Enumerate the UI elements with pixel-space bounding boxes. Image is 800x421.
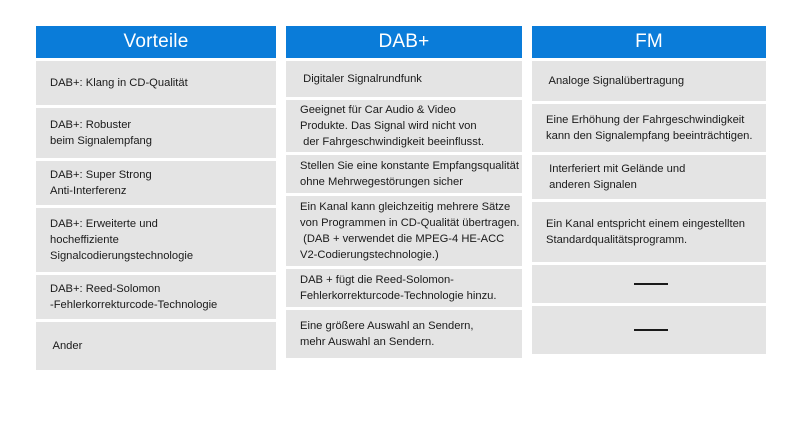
cell-line: Analoge Signalübertragung (546, 73, 756, 89)
table-row: DAB+: Klang in CD-Qualität (36, 61, 276, 105)
cell-line: Ander (50, 338, 266, 354)
table-row: Ein Kanal entspricht einem eingestellten… (532, 202, 766, 262)
column-dabplus: DAB+ Digitaler Signalrundfunk Geeignet f… (286, 26, 522, 370)
empty-dash-icon (634, 283, 668, 285)
cell-line: DAB + fügt die Reed-Solomon- (300, 272, 512, 288)
cell-line: kann den Signalempfang beeinträchtigen. (546, 128, 756, 144)
table-row: Stellen Sie eine konstante Empfangsquali… (286, 155, 522, 193)
cell-line: DAB+: Robuster (50, 117, 266, 133)
table-row: DAB+: Reed-Solomon -Fehlerkorrekturcode-… (36, 275, 276, 319)
table-row: DAB + fügt die Reed-Solomon- Fehlerkorre… (286, 269, 522, 307)
cell-line: Eine Erhöhung der Fahrgeschwindigkeit (546, 112, 756, 128)
cell-line: anderen Signalen (546, 177, 756, 193)
cell-line: beim Signalempfang (50, 133, 266, 149)
cell-line: DAB+: Erweiterte und (50, 216, 266, 232)
table-row: Eine größere Auswahl an Sendern, mehr Au… (286, 310, 522, 358)
cell-line: Digitaler Signalrundfunk (300, 71, 512, 87)
cell-line: der Fahrgeschwindigkeit beeinflusst. (300, 134, 512, 150)
cell-line: Interferiert mit Gelände und (546, 161, 756, 177)
cell-line: hocheffiziente (50, 232, 266, 248)
cell-line: mehr Auswahl an Sendern. (300, 334, 512, 350)
table-row: DAB+: Super Strong Anti-Interferenz (36, 161, 276, 205)
cell-line: Signalcodierungstechnologie (50, 248, 266, 264)
table-row: Digitaler Signalrundfunk (286, 61, 522, 97)
column-vorteile: Vorteile DAB+: Klang in CD-Qualität DAB+… (36, 26, 276, 370)
table-row (532, 265, 766, 303)
cell-line: DAB+: Klang in CD-Qualität (50, 75, 266, 91)
column-header-vorteile: Vorteile (36, 26, 276, 58)
table-row: Analoge Signalübertragung (532, 61, 766, 101)
cell-line: DAB+: Reed-Solomon (50, 281, 266, 297)
table-row: Ein Kanal kann gleichzeitig mehrere Sätz… (286, 196, 522, 266)
cell-line: (DAB + verwendet die MPEG-4 HE-ACC (300, 231, 512, 247)
cell-line: ohne Mehrwegestörungen sicher (300, 174, 512, 190)
cell-line: Ein Kanal kann gleichzeitig mehrere Sätz… (300, 199, 512, 215)
column-fm: FM Analoge Signalübertragung Eine Erhöhu… (532, 26, 766, 370)
cell-line: Eine größere Auswahl an Sendern, (300, 318, 512, 334)
table-row: Geeignet für Car Audio & Video Produkte.… (286, 100, 522, 152)
cell-line: von Programmen in CD-Qualität übertragen… (300, 215, 512, 231)
table-row: Interferiert mit Gelände und anderen Sig… (532, 155, 766, 199)
comparison-table: Vorteile DAB+: Klang in CD-Qualität DAB+… (36, 26, 766, 370)
table-row: DAB+: Erweiterte und hocheffiziente Sign… (36, 208, 276, 272)
table-row: Ander (36, 322, 276, 370)
cell-line: -Fehlerkorrekturcode-Technologie (50, 297, 266, 313)
column-header-fm: FM (532, 26, 766, 58)
table-row: Eine Erhöhung der Fahrgeschwindigkeit ka… (532, 104, 766, 152)
cell-line: Fehlerkorrekturcode-Technologie hinzu. (300, 288, 512, 304)
cell-line: Standardqualitätsprogramm. (546, 232, 756, 248)
cell-line: Geeignet für Car Audio & Video (300, 102, 512, 118)
cell-line: Produkte. Das Signal wird nicht von (300, 118, 512, 134)
table-row: DAB+: Robuster beim Signalempfang (36, 108, 276, 158)
cell-line: Ein Kanal entspricht einem eingestellten (546, 216, 756, 232)
cell-line: DAB+: Super Strong (50, 167, 266, 183)
cell-line: V2-Codierungstechnologie.) (300, 247, 512, 263)
column-header-dabplus: DAB+ (286, 26, 522, 58)
empty-dash-icon (634, 329, 668, 331)
cell-line: Stellen Sie eine konstante Empfangsquali… (300, 158, 512, 174)
cell-line: Anti-Interferenz (50, 183, 266, 199)
table-row (532, 306, 766, 354)
